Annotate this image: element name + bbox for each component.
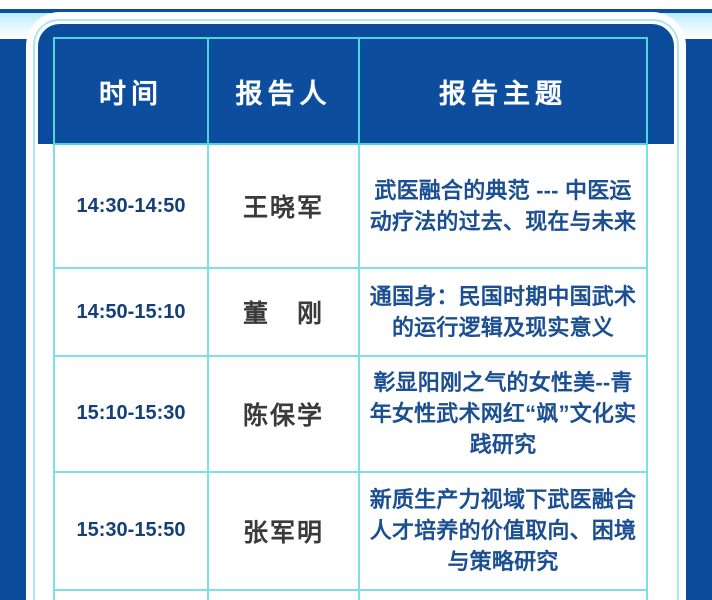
header-row: 时间 报告人 报告主题 xyxy=(54,38,647,144)
cell-topic: 通国身：民国时期中国武术的运行逻辑及现实意义 xyxy=(359,268,647,356)
table-row: 14:50-15:10 董 刚 通国身：民国时期中国武术的运行逻辑及现实意义 xyxy=(54,268,647,356)
poster-background: 时间 报告人 报告主题 14:30-14:50 王晓军 武医融合的典范 --- … xyxy=(0,0,712,600)
table-row: 15:10-15:30 陈保学 彰显阳刚之气的女性美--青年女性武术网红“飒”文… xyxy=(54,356,647,472)
schedule-table: 时间 报告人 报告主题 14:30-14:50 王晓军 武医融合的典范 --- … xyxy=(53,37,648,600)
schedule-table-body: 14:30-14:50 王晓军 武医融合的典范 --- 中医运动疗法的过去、现在… xyxy=(54,144,647,600)
cell-speaker: 王晓军 xyxy=(208,144,359,268)
cell-speaker: 张军明 xyxy=(208,472,359,590)
cell-time: 15:30-15:50 xyxy=(54,472,208,590)
column-header-topic: 报告主题 xyxy=(359,38,647,144)
cell-time: 14:30-14:50 xyxy=(54,144,208,268)
table-row: 14:30-14:50 王晓军 武医融合的典范 --- 中医运动疗法的过去、现在… xyxy=(54,144,647,268)
cell-topic: 武医融合的典范 --- 中医运动疗法的过去、现在与未来 xyxy=(359,144,647,268)
cell-time: 15:10-15:30 xyxy=(54,356,208,472)
table-row: 15:30-15:50 张军明 新质生产力视域下武医融合人才培养的价值取向、困境… xyxy=(54,472,647,590)
top-white-strip xyxy=(0,0,712,9)
column-header-time: 时间 xyxy=(54,38,208,144)
table-row xyxy=(54,590,647,600)
cell-topic xyxy=(359,590,647,600)
cell-speaker: 董 刚 xyxy=(208,268,359,356)
schedule-table-header: 时间 报告人 报告主题 xyxy=(54,38,647,144)
cell-speaker: 陈保学 xyxy=(208,356,359,472)
cell-speaker xyxy=(208,590,359,600)
cell-time: 14:50-15:10 xyxy=(54,268,208,356)
cell-topic: 新质生产力视域下武医融合人才培养的价值取向、困境与策略研究 xyxy=(359,472,647,590)
schedule-table-container: 时间 报告人 报告主题 14:30-14:50 王晓军 武医融合的典范 --- … xyxy=(53,37,646,600)
cell-time xyxy=(54,590,208,600)
cell-topic: 彰显阳刚之气的女性美--青年女性武术网红“飒”文化实践研究 xyxy=(359,356,647,472)
column-header-speaker: 报告人 xyxy=(208,38,359,144)
